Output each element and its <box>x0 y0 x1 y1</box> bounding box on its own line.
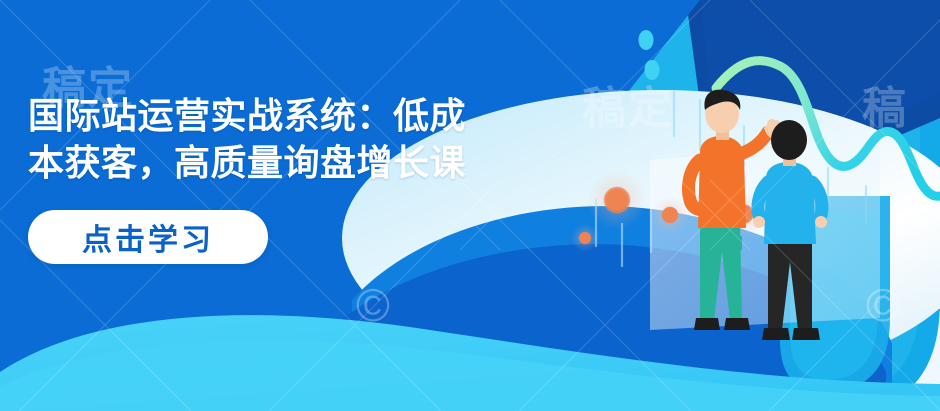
page-title: 国际站运营实战系统：低成 本获客，高质量询盘增长课 <box>28 92 628 186</box>
promo-copy-block: 国际站运营实战系统：低成 本获客，高质量询盘增长课 点击学习 <box>28 92 628 264</box>
click-to-learn-button[interactable]: 点击学习 <box>28 210 268 264</box>
course-promo-banner: 稿定 稿定 稿 © © 国际站运营实战系统：低成 本获客，高质量询盘增长课 点击… <box>0 0 940 411</box>
